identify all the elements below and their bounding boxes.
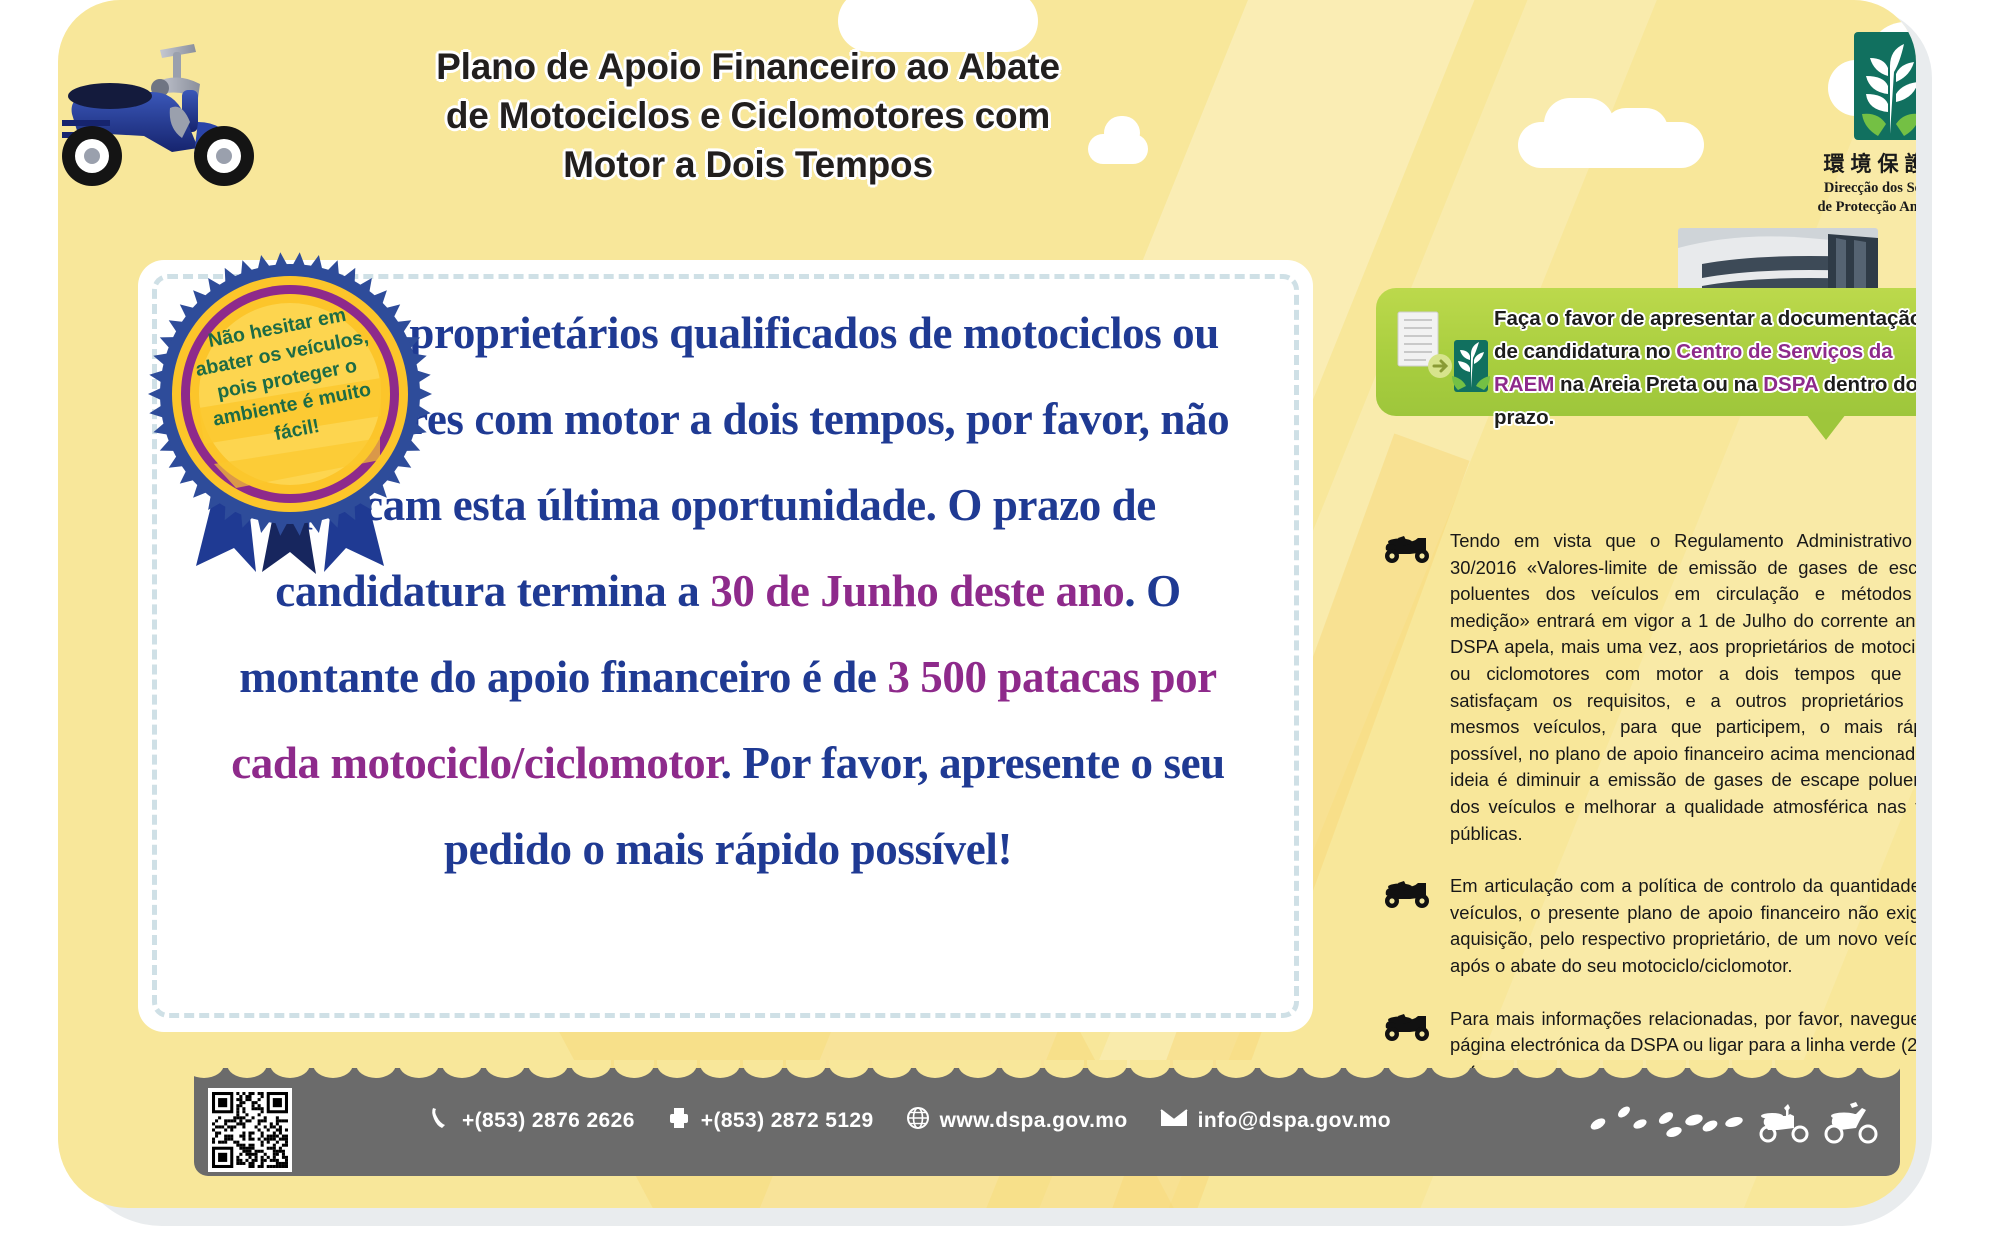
scallop-dot (1130, 1060, 1170, 1078)
scallop-dot (1259, 1060, 1299, 1078)
scallop-dot (1044, 1060, 1084, 1078)
contact-email-value: info@dspa.gov.mo (1198, 1109, 1391, 1133)
leaf-logo-icon (1452, 340, 1490, 392)
scooter-illustration (58, 22, 278, 190)
scallop-dot (1732, 1060, 1772, 1078)
scallop-dot (1818, 1060, 1858, 1078)
dspa-logo: 環境保護局 Direcção dos Serviços de Protecção… (1776, 32, 1916, 216)
scallop-dot (270, 1060, 310, 1078)
callout-text: Faça o favor de apresentar a documentaçã… (1494, 302, 1916, 434)
scallop-dot (1302, 1060, 1342, 1078)
callout-bubble: Faça o favor de apresentar a documentaçã… (1376, 288, 1916, 448)
scallop-dot (442, 1060, 482, 1078)
highlighted-text: DSPA (1763, 373, 1818, 396)
contact-fax-value: +(853) 2872 5129 (701, 1109, 874, 1133)
scallop-dot (1388, 1060, 1428, 1078)
scallop-dot (829, 1060, 869, 1078)
envelope-icon (1160, 1108, 1188, 1134)
scallop-dot (399, 1060, 439, 1078)
scallop-dot (657, 1060, 697, 1078)
list-item-text: Em articulação com a política de control… (1450, 873, 1916, 979)
poster-body: Plano de Apoio Financeiro ao Abate de Mo… (58, 0, 1916, 1208)
contact-website[interactable]: www.dspa.gov.mo (906, 1106, 1128, 1136)
scooter-bullet-icon (1380, 1008, 1432, 1042)
footer-contacts: +(853) 2876 2626 +(853) 2872 5129 (428, 1106, 1409, 1136)
bullet-list: Tendo em vista que o Regulamento Adminis… (1368, 528, 1916, 1111)
scallop-dot (313, 1060, 353, 1078)
scallop-dot (1474, 1060, 1514, 1078)
scooter-icon (1761, 1104, 1807, 1141)
scallop-dot (1560, 1060, 1600, 1078)
contact-phone-value: +(853) 2876 2626 (462, 1109, 635, 1133)
arrow-right-icon (1428, 354, 1452, 378)
award-seal: Não hesitar em abater os veículos, pois … (144, 248, 436, 578)
scallop-dot (485, 1060, 525, 1078)
scallop-dot (1646, 1060, 1686, 1078)
qr-code (208, 1088, 292, 1172)
list-item: Tendo em vista que o Regulamento Adminis… (1368, 528, 1916, 847)
scallop-dot (872, 1060, 912, 1078)
scallop-dot (194, 1060, 224, 1078)
scallop-dot (1689, 1060, 1729, 1078)
scallop-dot (1775, 1060, 1815, 1078)
scallop-dot (1216, 1060, 1256, 1078)
scallop-dot (1345, 1060, 1385, 1078)
title-line-1: Plano de Apoio Financeiro ao Abate (248, 42, 1248, 91)
scallop-dot (528, 1060, 568, 1078)
scallop-dot (1603, 1060, 1643, 1078)
title-line-2: de Motociclos e Ciclomotores com (248, 91, 1248, 140)
list-item: Em articulação com a política de control… (1368, 873, 1916, 979)
scallop-dot (1087, 1060, 1127, 1078)
scallop-dot (915, 1060, 955, 1078)
scallop-dot (743, 1060, 783, 1078)
scallop-dot (958, 1060, 998, 1078)
scallop-dot (700, 1060, 740, 1078)
title-line-3: Motor a Dois Tempos (248, 140, 1248, 189)
poster-root: Plano de Apoio Financeiro ao Abate de Mo… (0, 0, 2000, 1235)
contact-fax: +(853) 2872 5129 (667, 1106, 874, 1136)
scallop-dot (356, 1060, 396, 1078)
scallop-dot (1861, 1060, 1900, 1078)
scooter-bullet-icon (1380, 875, 1432, 909)
leaf-logo-icon (1848, 32, 1916, 144)
callout-icons (1396, 310, 1492, 398)
contact-website-value: www.dspa.gov.mo (940, 1109, 1128, 1133)
leaves-trail (1589, 1104, 1744, 1139)
phone-icon (428, 1106, 452, 1136)
scallop-dot (614, 1060, 654, 1078)
scallop-dot (227, 1060, 267, 1078)
page-title: Plano de Apoio Financeiro ao Abate de Mo… (248, 42, 1248, 189)
scallop-dot (571, 1060, 611, 1078)
scallop-dot (1517, 1060, 1557, 1078)
contact-phone: +(853) 2876 2626 (428, 1106, 635, 1136)
scooter-bullet-icon (1380, 530, 1432, 564)
contact-email[interactable]: info@dspa.gov.mo (1160, 1108, 1391, 1134)
footer-decorations (1588, 1090, 1888, 1162)
scallop-dot (1431, 1060, 1471, 1078)
logo-portuguese-line-2: de Protecção Ambiental (1776, 199, 1916, 216)
list-item-text: Tendo em vista que o Regulamento Adminis… (1450, 528, 1916, 847)
scallop-dot (786, 1060, 826, 1078)
highlighted-text: 30 de Junho deste ano (710, 566, 1124, 616)
fax-icon (667, 1106, 691, 1136)
globe-icon (906, 1106, 930, 1136)
scallop-edge (194, 1060, 1900, 1080)
motorcycle-icon (1826, 1102, 1876, 1142)
logo-chinese-name: 環境保護局 (1776, 148, 1916, 178)
scallop-dot (1001, 1060, 1041, 1078)
logo-portuguese-line-1: Direcção dos Serviços (1776, 180, 1916, 197)
body-text: na Areia Preta ou na (1554, 373, 1763, 396)
scallop-dot (1173, 1060, 1213, 1078)
